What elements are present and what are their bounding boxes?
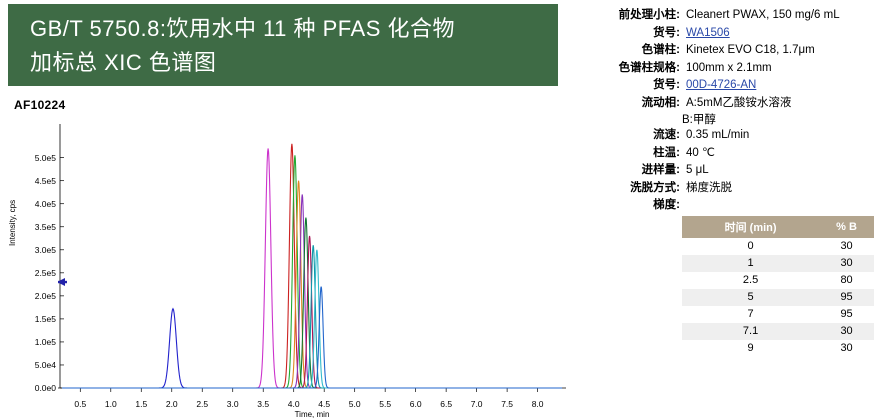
gradient-row-item: 2.580 [682,272,874,289]
y-tick-label: 3.0e5 [35,245,56,255]
gradient-table-body: 0301302.5805957957.130930 [682,238,874,357]
method-row-link[interactable]: WA1506 [684,26,876,41]
y-tick-label: 5.0e4 [35,360,56,370]
gradient-cell: 1 [682,255,819,272]
y-tick-label: 4.0e5 [35,199,56,209]
method-row: 前处理小柱:Cleanert PWAX, 150 mg/6 mL [588,8,876,23]
gradient-cell: 30 [819,340,874,357]
method-rows-2: 流速:0.35 mL/min柱温:40 ℃进样量:5 μL洗脱方式:梯度洗脱 [588,128,876,196]
gradient-row: 梯度: [588,198,876,213]
gradient-row-item: 7.130 [682,323,874,340]
y-tick-label: 2.5e5 [35,268,56,278]
chart-panel: GB/T 5750.8:饮用水中 11 种 PFAS 化合物 加标总 XIC 色… [0,0,580,419]
method-row: 色谱柱:Kinetex EVO C18, 1.7μm [588,43,876,58]
method-row-label: 货号: [588,26,684,41]
gradient-label: 梯度: [588,198,684,213]
gradient-cell: 5 [682,289,819,306]
plot-area [58,118,566,398]
method-row-value: 梯度洗脱 [684,181,876,196]
x-tick-label: 2.0 [166,399,178,409]
method-row-label: 前处理小柱: [588,8,684,23]
chromatogram-svg [58,118,566,398]
y-tick-label: 1.5e5 [35,314,56,324]
method-row-label: 流动相: [588,96,684,111]
method-row-label: 色谱柱规格: [588,61,684,76]
method-row-label: 货号: [588,78,684,93]
x-tick-label: 1.5 [135,399,147,409]
method-row: 洗脱方式:梯度洗脱 [588,181,876,196]
method-row-link[interactable]: 00D-4726-AN [684,78,876,93]
chromatogram: Intensity, cps 0.0e05.0e41.0e51.5e52.0e5… [10,118,570,413]
gradient-cell: 30 [819,323,874,340]
method-row: 货号:00D-4726-AN [588,78,876,93]
method-row-label: 洗脱方式: [588,181,684,196]
gradient-table: 时间 (min)% B 0301302.5805957957.130930 [682,216,874,357]
gradient-row-item: 130 [682,255,874,272]
y-tick-label: 5.0e5 [35,153,56,163]
method-row: 流速:0.35 mL/min [588,128,876,143]
y-tick-label: 4.5e5 [35,176,56,186]
method-row-value: 0.35 mL/min [684,128,876,143]
y-tick-label: 3.5e5 [35,222,56,232]
x-tick-label: 1.0 [105,399,117,409]
left-axis-marker-bar [58,281,67,283]
method-row-label: 进样量: [588,163,684,178]
x-tick-label: 4.0 [288,399,300,409]
gradient-cell: 95 [819,289,874,306]
y-axis-ticks: 0.0e05.0e41.0e51.5e52.0e52.5e53.0e53.5e5… [10,118,56,398]
x-tick-label: 3.5 [257,399,269,409]
gradient-row-item: 030 [682,238,874,255]
method-rows: 前处理小柱:Cleanert PWAX, 150 mg/6 mL货号:WA150… [588,8,876,111]
gradient-cell: 7 [682,306,819,323]
gradient-cell: 30 [819,238,874,255]
title-line-1: GB/T 5750.8:饮用水中 11 种 PFAS 化合物 [30,12,558,46]
gradient-row-item: 795 [682,306,874,323]
x-tick-label: 8.0 [532,399,544,409]
method-row-value: 5 μL [684,163,876,178]
x-tick-label: 2.5 [196,399,208,409]
x-tick-label: 4.5 [318,399,330,409]
gradient-col-header: 时间 (min) [682,216,819,238]
method-row-label: 柱温: [588,146,684,161]
x-tick-label: 5.0 [349,399,361,409]
method-row: 货号:WA1506 [588,26,876,41]
title-line-2: 加标总 XIC 色谱图 [30,46,558,80]
gradient-cell: 9 [682,340,819,357]
x-tick-label: 7.0 [471,399,483,409]
method-row: 进样量:5 μL [588,163,876,178]
gradient-col-header: % B [819,216,874,238]
method-row-label: 色谱柱: [588,43,684,58]
method-row-value: 40 ℃ [684,146,876,161]
mobile-phase-b: B:甲醇 [588,113,876,128]
method-panel: 前处理小柱:Cleanert PWAX, 150 mg/6 mL货号:WA150… [588,8,876,413]
method-row: 流动相:A:5mM乙酸铵水溶液 [588,96,876,111]
sample-label: AF10224 [14,98,65,112]
gradient-row-item: 595 [682,289,874,306]
x-tick-label: 5.5 [379,399,391,409]
gradient-cell: 2.5 [682,272,819,289]
x-tick-label: 6.5 [440,399,452,409]
y-tick-label: 0.0e0 [35,383,56,393]
gradient-row-item: 930 [682,340,874,357]
method-row-value: 100mm x 2.1mm [684,61,876,76]
x-tick-label: 3.0 [227,399,239,409]
method-row-value: Kinetex EVO C18, 1.7μm [684,43,876,58]
gradient-cell: 0 [682,238,819,255]
x-tick-label: 0.5 [74,399,86,409]
gradient-cell: 80 [819,272,874,289]
gradient-table-header: 时间 (min)% B [682,216,874,238]
gradient-cell: 95 [819,306,874,323]
method-row-label: 流速: [588,128,684,143]
method-row: 柱温:40 ℃ [588,146,876,161]
x-axis-title: Time, min [58,410,566,419]
y-tick-label: 1.0e5 [35,337,56,347]
y-tick-label: 2.0e5 [35,291,56,301]
x-tick-label: 6.0 [410,399,422,409]
method-row: 色谱柱规格:100mm x 2.1mm [588,61,876,76]
method-row-value: Cleanert PWAX, 150 mg/6 mL [684,8,876,23]
x-tick-label: 7.5 [501,399,513,409]
method-row-value: A:5mM乙酸铵水溶液 [684,96,876,111]
gradient-cell: 30 [819,255,874,272]
gradient-cell: 7.1 [682,323,819,340]
title-banner: GB/T 5750.8:饮用水中 11 种 PFAS 化合物 加标总 XIC 色… [8,4,558,86]
